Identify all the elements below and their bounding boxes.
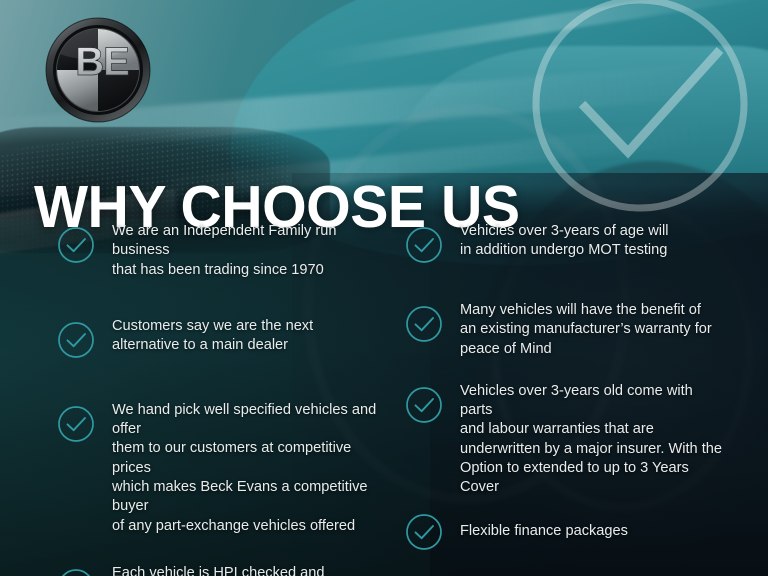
benefit-text: Flexible finance packages [460,522,628,541]
benefit-line: which makes Beck Evans a competitive buy… [112,478,387,517]
benefit-line: We hand pick well specified vehicles and… [112,401,387,440]
benefit-text: Vehicles over 3-years old come with part… [460,382,723,498]
be-roundel-logo: BE [45,17,151,123]
benefit-item: Vehicles over 3-years of age will in add… [405,222,723,264]
benefit-line: of any part-exchange vehicles offered [112,517,387,536]
benefit-item: Each vehicle is HPI checked and undergoe… [57,564,387,576]
benefit-line: that has been trading since 1970 [112,261,387,280]
benefit-text: Vehicles over 3-years of age will in add… [460,222,668,261]
benefit-text: Each vehicle is HPI checked and undergoe… [112,564,387,576]
circle-check-icon [405,226,443,264]
circle-check-icon [57,321,95,359]
benefit-line: Many vehicles will have the benefit of [460,301,712,320]
circle-check-icon [405,305,443,343]
benefit-line: in addition undergo MOT testing [460,241,668,260]
benefit-line: We are an Independent Family run busines… [112,222,387,261]
benefit-line: peace of Mind [460,340,712,359]
benefit-line: underwritten by a major insurer. With th… [460,440,723,459]
why-choose-us-slide: BE WHY CHOOSE US We are an Independent F… [0,0,768,576]
benefit-text: We are an Independent Family run busines… [112,222,387,280]
circle-check-icon [405,513,443,551]
benefit-item: Vehicles over 3-years old come with part… [405,382,723,498]
benefit-line: an existing manufacturer’s warranty for [460,320,712,339]
benefit-line: Vehicles over 3-years of age will [460,222,668,241]
svg-text:BE: BE [75,40,129,84]
benefit-item: We are an Independent Family run busines… [57,222,387,280]
benefit-line: Each vehicle is HPI checked and undergoe… [112,564,387,576]
benefit-text: Customers say we are the next alternativ… [112,317,313,356]
benefit-line: Option to extended to up to 3 Years Cove… [460,459,723,498]
benefit-line: Vehicles over 3-years old come with part… [460,382,723,421]
benefit-item: Flexible finance packages [405,522,723,551]
benefit-text: Many vehicles will have the benefit of a… [460,301,712,359]
benefits-column-left: We are an Independent Family run busines… [57,222,387,576]
benefit-item: Customers say we are the next alternativ… [57,317,387,359]
benefit-text: We hand pick well specified vehicles and… [112,401,387,536]
circle-check-icon [57,226,95,264]
benefit-item: We hand pick well specified vehicles and… [57,401,387,536]
benefits-column-right: Vehicles over 3-years of age will in add… [405,222,723,551]
benefit-item: Many vehicles will have the benefit of a… [405,301,723,359]
benefit-line: and labour warranties that are [460,420,723,439]
benefit-line: Customers say we are the next [112,317,313,336]
circle-check-icon [405,386,443,424]
benefit-line: them to our customers at competitive pri… [112,439,387,478]
circle-check-icon [57,568,95,576]
benefit-line: alternative to a main dealer [112,336,313,355]
benefit-line: Flexible finance packages [460,522,628,541]
circle-check-icon [57,405,95,443]
